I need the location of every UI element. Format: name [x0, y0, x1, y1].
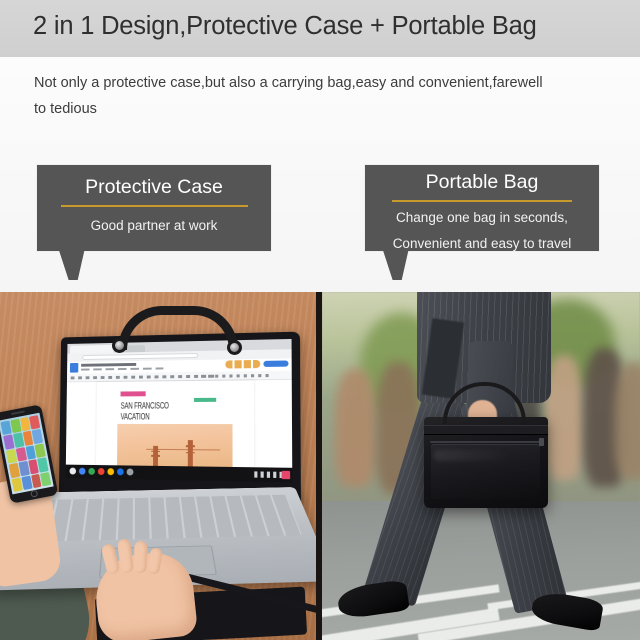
docs-logo-icon: [70, 363, 78, 373]
phone-home-button: [30, 490, 38, 498]
chromeos-shelf: [66, 465, 293, 483]
collaborator-avatars: [225, 360, 260, 369]
callout-subtitle: Good partner at work: [37, 215, 271, 236]
shelf-app-icon: [69, 468, 76, 475]
phone-app-icon: [32, 429, 43, 444]
golden-gate-bridge-image: [117, 423, 233, 467]
page-title: 2 in 1 Design,Protective Case + Portable…: [33, 12, 537, 41]
photo-row: SAN FRANCISCO VACATION: [0, 292, 640, 640]
bag-zipper-pull: [539, 438, 544, 446]
bag-highlight: [434, 450, 513, 461]
pink-highlight-mark: [121, 392, 146, 397]
bridge-tower: [188, 440, 193, 467]
shelf-app-icon: [79, 468, 86, 475]
shelf-app-icon: [98, 468, 105, 475]
shelf-app-icon: [88, 468, 95, 475]
phone-earpiece: [11, 410, 25, 415]
finger: [133, 541, 147, 573]
blurred-pedestrian: [335, 369, 376, 487]
docs-menu-bar: [81, 367, 163, 370]
photo-laptop-in-protective-case: SAN FRANCISCO VACATION: [0, 292, 316, 640]
laptop-keyboard: [15, 495, 302, 542]
phone-app-icon: [37, 457, 48, 472]
shelf-notification-badge: [282, 471, 291, 479]
shelf-app-icon: [117, 468, 124, 475]
callout-divider: [61, 205, 248, 207]
street-scene: [322, 292, 640, 640]
document-sheet: SAN FRANCISCO VACATION: [96, 380, 254, 467]
callout-subtitle-line1: Change one bag in seconds,: [365, 207, 599, 228]
phone-app-icon: [40, 472, 51, 487]
share-button: [263, 360, 288, 367]
handle-rivet-right: [227, 340, 242, 355]
shelf-app-icon: [127, 468, 134, 475]
green-highlight-mark: [194, 398, 216, 402]
phone-app-icon: [35, 443, 46, 458]
url-field: [82, 353, 198, 360]
laptop-lid-with-case: SAN FRANCISCO VACATION: [59, 332, 301, 506]
handle-rivet-left: [112, 338, 127, 353]
callout-title: Protective Case: [37, 176, 271, 199]
bag-top-lip: [424, 425, 548, 436]
photo-businessman-carrying-bag: [322, 292, 640, 640]
laptop-screen: SAN FRANCISCO VACATION: [66, 339, 293, 482]
shelf-app-icons: [69, 468, 133, 476]
portable-bag-product: [424, 417, 548, 507]
intro-paragraph: Not only a protective case,but also a ca…: [34, 70, 554, 122]
document-subheading: VACATION: [120, 412, 149, 422]
phone-app-icon: [16, 447, 27, 462]
phone-app-icon: [13, 433, 24, 448]
docs-document-title: [81, 363, 136, 367]
phone-app-icon: [18, 461, 29, 476]
product-infographic: 2 in 1 Design,Protective Case + Portable…: [0, 0, 640, 640]
bridge-tower: [153, 446, 158, 466]
document-heading: SAN FRANCISCO: [121, 401, 169, 411]
phone-app-icon: [21, 475, 32, 490]
bag-zipper: [430, 441, 542, 443]
phone-app-icon: [29, 415, 40, 430]
shelf-app-icon: [107, 468, 114, 475]
document-canvas: SAN FRANCISCO VACATION: [66, 380, 292, 468]
blurred-pedestrian: [615, 362, 640, 480]
callout-portable-bag: Portable Bag Change one bag in seconds, …: [364, 164, 600, 252]
phone-app-icon: [10, 419, 21, 434]
callout-divider: [392, 200, 572, 202]
callout-title: Portable Bag: [365, 171, 599, 194]
callout-protective-case: Protective Case Good partner at work: [36, 164, 272, 252]
